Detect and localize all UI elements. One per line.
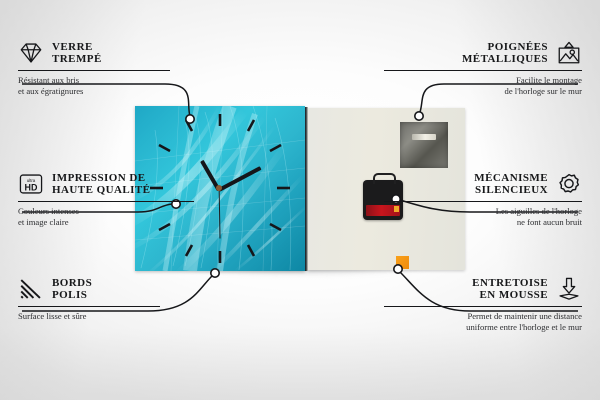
feature-title-line-1: MÉCANISME	[474, 172, 548, 185]
feature-header: ENTRETOISE EN MOUSSE	[382, 276, 582, 302]
feature-subtitle-line-1: Facilite le montage	[382, 75, 582, 86]
foam-spacer-orange	[396, 256, 409, 269]
feature-poignees-metalliques: POIGNÉES MÉTALLIQUES Facilite le montage…	[382, 40, 582, 96]
feature-subtitle-line-2: et image claire	[18, 217, 218, 228]
feature-title-line-1: IMPRESSION DE	[52, 172, 150, 185]
feature-subtitle-line-2: ne font aucun bruit	[382, 217, 582, 228]
ultra-hd-icon-large-text: HD	[25, 183, 38, 193]
gear-icon	[556, 171, 582, 197]
feature-bords-polis: BORDS POLIS Surface lisse et sûre	[18, 276, 218, 322]
diamond-icon	[18, 40, 44, 66]
feature-title-line-2: MÉTALLIQUES	[462, 53, 548, 66]
feature-header: ultra HD IMPRESSION DE HAUTE QUALITÉ	[18, 171, 218, 197]
metal-hanger-plate	[400, 122, 448, 168]
feature-subtitle-line-2: de l'horloge sur le mur	[382, 86, 582, 97]
feature-header: BORDS POLIS	[18, 276, 218, 302]
feature-subtitle-line-1: Les aiguilles de l'horloge	[382, 206, 582, 217]
feature-header: VERRE TREMPÉ	[18, 40, 218, 66]
feature-entretoise-en-mousse: ENTRETOISE EN MOUSSE Permet de maintenir…	[382, 276, 582, 332]
feature-mecanisme-silencieux: MÉCANISME SILENCIEUX Les aiguilles de l'…	[382, 171, 582, 227]
feature-divider	[384, 70, 582, 71]
feature-subtitle-line-1: Résistant aux bris	[18, 75, 218, 86]
foam-spacer-icon	[556, 276, 582, 302]
feature-title-line-1: BORDS	[52, 277, 92, 290]
ultra-hd-icon: ultra HD	[18, 171, 44, 197]
feature-verre-trempe: VERRE TREMPÉ Résistant aux bris et aux é…	[18, 40, 218, 96]
infographic-canvas: VERRE TREMPÉ Résistant aux bris et aux é…	[0, 0, 600, 400]
feature-divider	[18, 201, 194, 202]
feature-subtitle-line-1: Surface lisse et sûre	[18, 311, 218, 322]
feature-subtitle-line-2: et aux égratignures	[18, 86, 218, 97]
feature-header: MÉCANISME SILENCIEUX	[382, 171, 582, 197]
polished-edge-icon	[18, 276, 44, 302]
feature-title-line-2: EN MOUSSE	[472, 289, 548, 302]
feature-title-line-2: SILENCIEUX	[474, 184, 548, 197]
picture-hanger-icon	[556, 40, 582, 66]
feature-title-line-2: TREMPÉ	[52, 53, 102, 66]
feature-title-line-1: POIGNÉES	[462, 41, 548, 54]
feature-divider	[384, 201, 582, 202]
feature-subtitle-line-2: uniforme entre l'horloge et le mur	[382, 322, 582, 333]
hanger-slot	[412, 134, 436, 140]
feature-header: POIGNÉES MÉTALLIQUES	[382, 40, 582, 66]
feature-divider	[18, 70, 170, 71]
feature-title-line-1: ENTRETOISE	[472, 277, 548, 290]
feature-subtitle-line-1: Couleurs intenses	[18, 206, 218, 217]
feature-title-line-1: VERRE	[52, 41, 102, 54]
feature-title-line-2: HAUTE QUALITÉ	[52, 184, 150, 197]
feature-impression-haute-qualite: ultra HD IMPRESSION DE HAUTE QUALITÉ Cou…	[18, 171, 218, 227]
feature-title-line-2: POLIS	[52, 289, 92, 302]
feature-divider	[384, 306, 582, 307]
feature-divider	[18, 306, 160, 307]
feature-subtitle-line-1: Permet de maintenir une distance	[382, 311, 582, 322]
